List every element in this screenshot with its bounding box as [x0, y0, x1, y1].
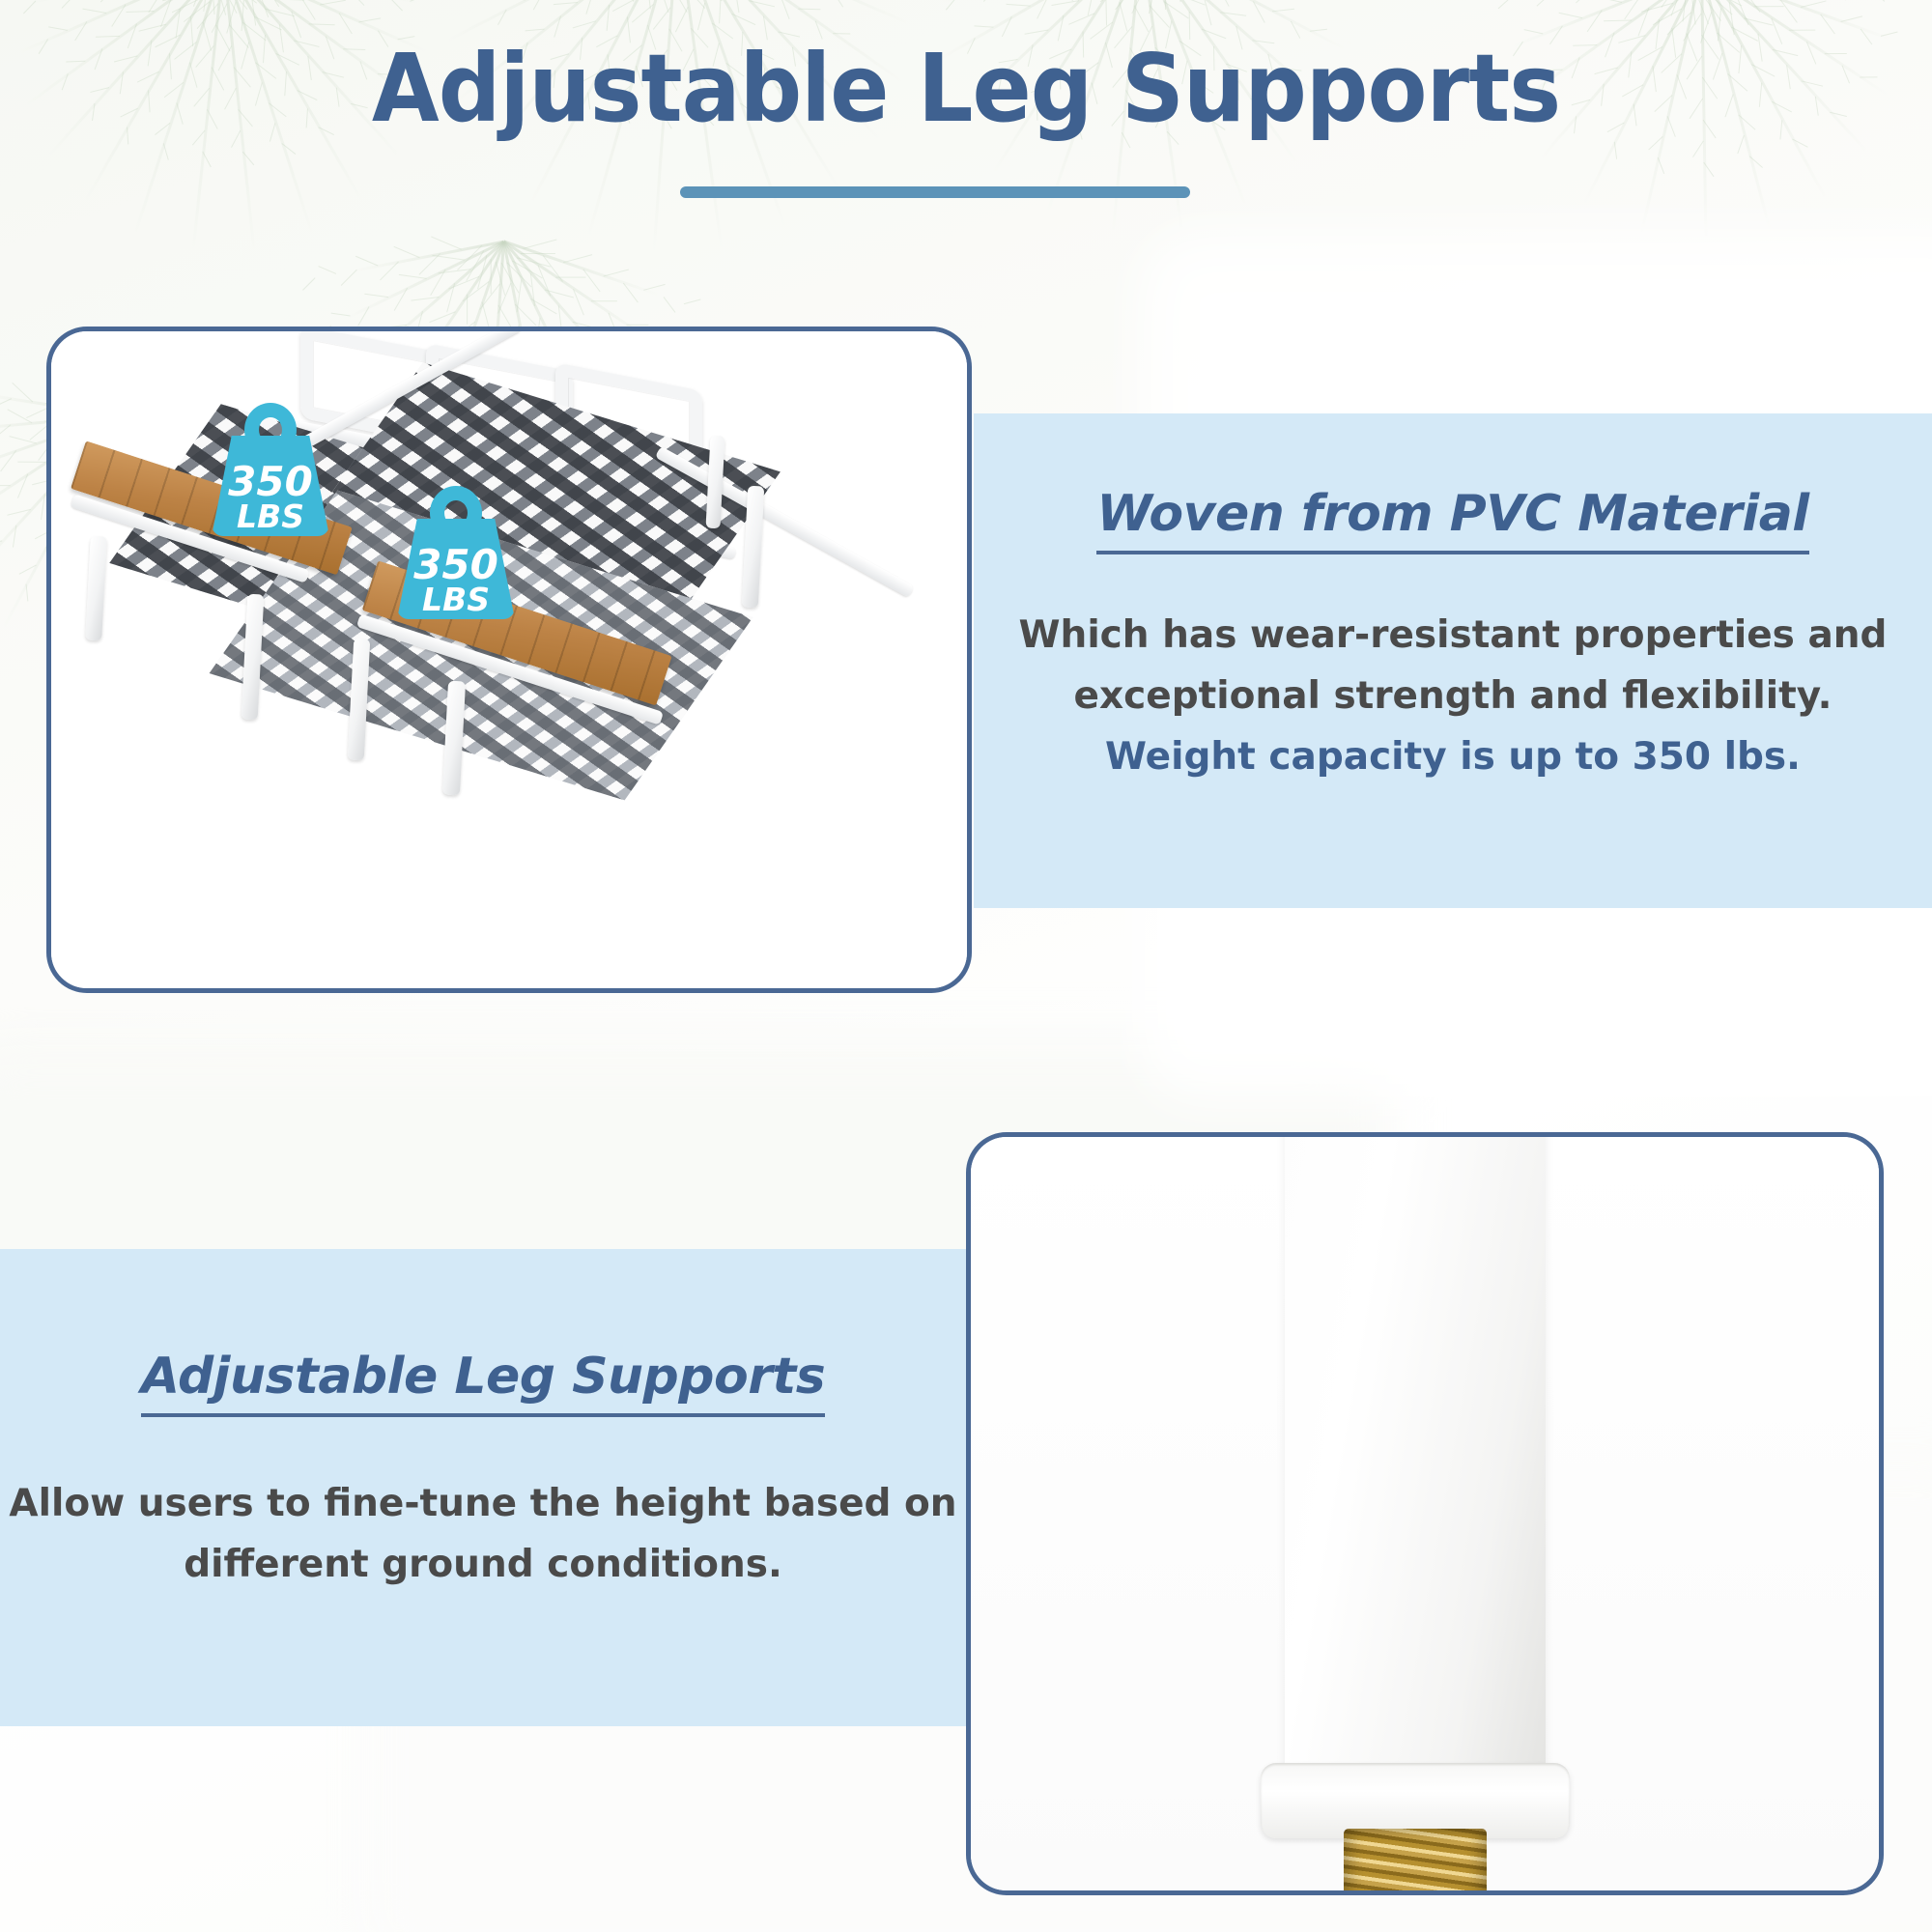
pvc-body-line-2: exceptional strength and flexibility.	[974, 666, 1932, 726]
pvc-body-line-3: Weight capacity is up to 350 lbs.	[974, 726, 1932, 787]
palm-frond-barb	[467, 295, 468, 325]
palm-frond-barb	[491, 259, 492, 294]
leg-mid-left	[241, 594, 265, 721]
leg-panel-content: Adjustable Leg Supports Allow users to f…	[0, 1348, 966, 1595]
palm-frond-barb	[17, 462, 45, 464]
palm-frond-barb	[1789, 29, 1815, 31]
brass-threaded-screw	[1344, 1829, 1487, 1895]
leg-closeup-card	[966, 1132, 1884, 1895]
pvc-panel-body: Which has wear-resistant properties and …	[974, 605, 1932, 788]
leg-closeup-photo	[971, 1137, 1879, 1890]
leg-panel-body: Allow users to fine-tune the height base…	[0, 1473, 966, 1595]
leg-front-left	[85, 536, 107, 641]
leg-panel-heading: Adjustable Leg Supports	[141, 1348, 825, 1417]
weight-capacity-badge-1: 350 LBS	[212, 403, 329, 536]
pvc-panel-heading: Woven from PVC Material	[1096, 485, 1808, 554]
weight-capacity-badge-2: 350 LBS	[397, 486, 515, 619]
palm-frond-barb	[555, 276, 585, 277]
pvc-info-panel: Woven from PVC Material Which has wear-r…	[974, 413, 1932, 908]
palm-frond-barb	[0, 485, 11, 487]
pvc-panel-content: Woven from PVC Material Which has wear-r…	[974, 485, 1932, 788]
title-block: Adjustable Leg Supports	[0, 41, 1932, 138]
weight-badge-unit: LBS	[212, 501, 329, 532]
palm-frond-barb	[1754, 6, 1784, 8]
weight-badge-unit: LBS	[397, 584, 515, 615]
leg-post	[1285, 1132, 1546, 1775]
title-underline-rule	[680, 186, 1190, 198]
product-photo: 350 LBS 350 LBS	[51, 331, 967, 988]
weight-badge-value: 350	[397, 545, 515, 584]
leg-body-line-1: Allow users to fine-tune the height base…	[0, 1473, 966, 1534]
weight-badge-value: 350	[212, 462, 329, 501]
palm-frond-barb	[626, 324, 648, 325]
pvc-body-line-1: Which has wear-resistant properties and	[974, 605, 1932, 666]
product-image-card: 350 LBS 350 LBS	[46, 327, 972, 993]
page-title: Adjustable Leg Supports	[68, 41, 1864, 138]
leg-adjuster-collar	[1261, 1763, 1570, 1838]
weight-badge-text: 350 LBS	[212, 462, 329, 532]
weight-badge-text: 350 LBS	[397, 545, 515, 615]
leg-info-panel: Adjustable Leg Supports Allow users to f…	[0, 1249, 966, 1726]
palm-frond-barb	[521, 253, 555, 254]
leg-body-line-2: different ground conditions.	[0, 1534, 966, 1595]
palm-frond-barb	[591, 300, 617, 301]
